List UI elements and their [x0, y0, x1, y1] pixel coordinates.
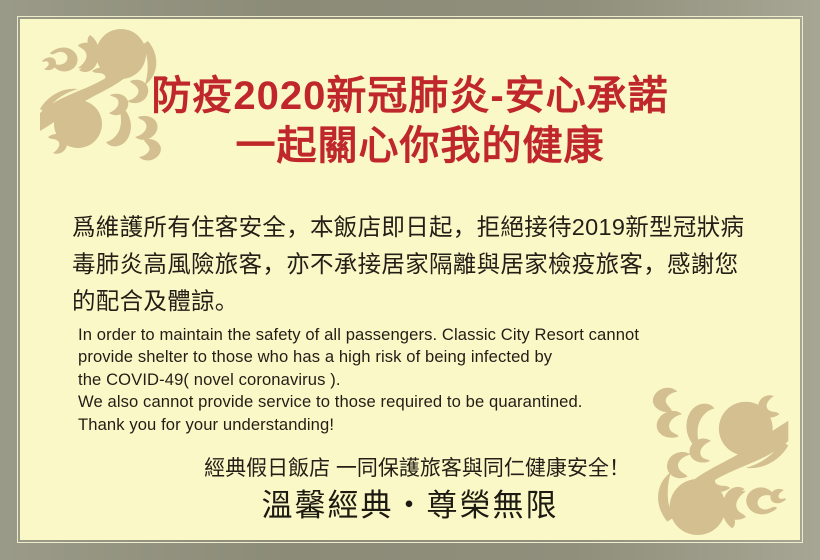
poster-footer: 經典假日飯店 一同保護旅客與同仁健康安全！ 溫馨經典・尊榮無限 — [20, 454, 800, 528]
english-body-line-1: In order to maintain the safety of all p… — [78, 324, 760, 346]
english-body-line-4: We also cannot provide service to those … — [78, 391, 760, 413]
poster-page: 防疫2020新冠肺炎-安心承諾 一起關心你我的健康 爲維護所有住客安全，本飯店即… — [20, 19, 800, 540]
english-body-line-5: Thank you for your understanding! — [78, 414, 760, 436]
english-body-line-2: provide shelter to those who has a high … — [78, 346, 760, 368]
english-body-line-3: the COVID-49( novel coronavirus ). — [78, 369, 760, 391]
title-line-1: 防疫2020新冠肺炎-安心承諾 — [20, 71, 800, 121]
title-line-2: 一起關心你我的健康 — [20, 121, 800, 171]
page-title: 防疫2020新冠肺炎-安心承諾 一起關心你我的健康 — [20, 71, 800, 171]
chinese-body-line-1: 爲維護所有住客安全，本飯店即日起，拒絕接待2019新型冠狀病 — [72, 209, 756, 246]
notice-body-english: In order to maintain the safety of all p… — [78, 324, 760, 436]
hotel-slogan: 溫馨經典・尊榮無限 — [20, 484, 800, 528]
notice-body-chinese: 爲維護所有住客安全，本飯店即日起，拒絕接待2019新型冠狀病 毒肺炎高風險旅客，… — [72, 209, 756, 320]
chinese-body-line-2: 毒肺炎高風險旅客，亦不承接居家隔離與居家檢疫旅客，感謝您 — [72, 246, 756, 283]
poster-notice: 防疫2020新冠肺炎-安心承諾 一起關心你我的健康 爲維護所有住客安全，本飯店即… — [0, 0, 820, 560]
hotel-pledge-line: 經典假日飯店 一同保護旅客與同仁健康安全！ — [20, 454, 800, 484]
chinese-body-line-3: 的配合及體諒。 — [72, 283, 756, 320]
